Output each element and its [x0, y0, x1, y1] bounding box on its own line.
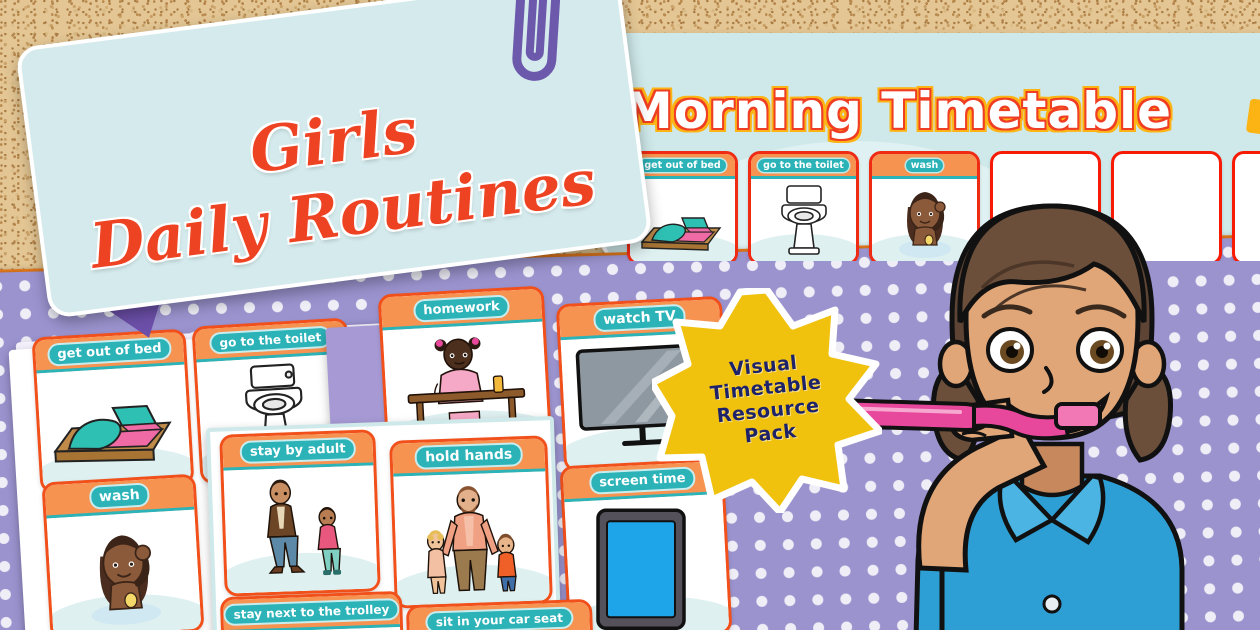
routine-card-label: sit in your car seat — [428, 609, 572, 630]
routine-card-stay-by-adult[interactable]: stay by adult — [219, 429, 381, 596]
routine-card-image — [223, 465, 377, 593]
routine-card-wash[interactable]: wash — [41, 474, 204, 630]
routine-card-label: stay by adult — [242, 439, 354, 462]
routine-card-image — [393, 471, 549, 605]
routine-card-header: stay next to the trolley — [223, 594, 400, 630]
routine-card-image — [47, 510, 202, 630]
timetable-card-label: get out of bed — [639, 159, 725, 172]
resource-pack-badge: Visual Timetable Resource Pack — [652, 288, 882, 513]
morning-timetable-title: Morning Timetable — [623, 82, 1223, 140]
routine-card-image — [37, 365, 192, 491]
father-holding-hands-icon — [406, 482, 536, 598]
routine-card-header: sit in your car seat — [409, 602, 590, 630]
routine-card-stay-next-to-the-trolley[interactable]: stay next to the trolley — [220, 591, 406, 630]
routine-card-label: homework — [415, 296, 508, 320]
bed-icon — [46, 386, 181, 478]
timetable-card-header: get out of bed — [630, 154, 735, 179]
routine-card-hold-hands[interactable]: hold hands — [389, 435, 553, 608]
routine-card-sit-in-your-car-seat[interactable]: sit in your car seat — [406, 599, 596, 630]
bed-icon — [638, 204, 726, 254]
routine-card-label: wash — [90, 484, 148, 507]
starburst-shape — [652, 288, 882, 513]
tablet-icon — [589, 504, 696, 630]
adult-and-child-walking-icon — [244, 476, 360, 586]
routine-card-label: go to the toilet — [211, 328, 330, 353]
routine-card-label: hold hands — [417, 444, 521, 468]
paperclip-icon — [511, 0, 562, 82]
routine-card-header: stay by adult — [222, 432, 373, 470]
routine-card-label: stay next to the trolley — [225, 600, 397, 624]
routine-card-header: hold hands — [392, 438, 545, 476]
poster-canvas: Morning Timetable get out of bed — [0, 0, 1260, 630]
routine-card-get-out-of-bed[interactable]: get out of bed — [32, 329, 195, 494]
washing-girl-icon — [81, 520, 167, 629]
